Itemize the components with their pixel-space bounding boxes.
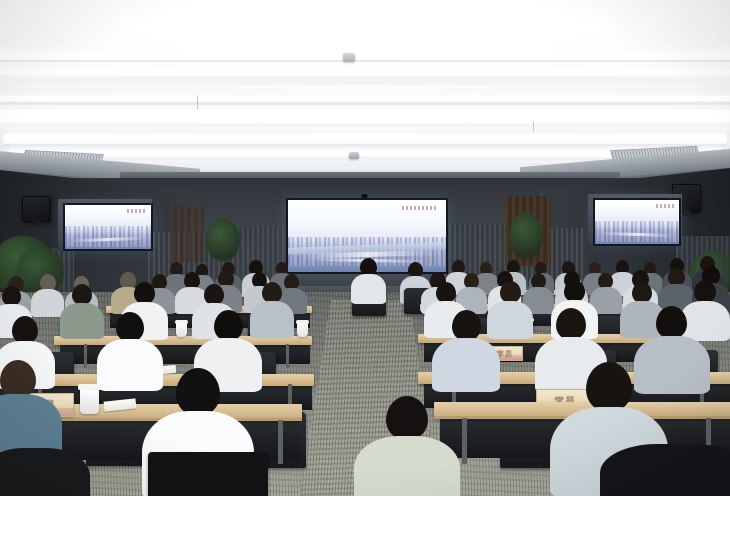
screen-watermark [127,209,146,213]
ceiling-rail [0,60,730,62]
torso [354,436,460,496]
head [176,368,220,416]
head [694,280,716,303]
head [586,362,632,412]
plant-center [206,218,240,262]
paper-cup [80,388,99,414]
torso [31,289,64,317]
paper-cup [297,322,308,337]
head [134,282,155,304]
torso [97,339,163,391]
head [204,284,224,305]
torso [351,274,386,304]
screen-watermark [402,206,437,210]
ceiling-light-strip [0,96,730,101]
wood-door-panel [170,206,204,262]
ceiling-rail [4,144,726,147]
cup-lid [78,384,101,390]
ceiling-light-strip [0,110,730,122]
torso [600,444,730,496]
cup-lid [296,320,309,324]
ceiling-light-strip [0,124,730,128]
screen-sky [595,200,679,220]
head [2,286,21,306]
head [564,280,585,302]
screen-watermark [656,204,674,208]
meeting-room-photo: 学员 [0,0,730,496]
torso [60,303,104,339]
paper-cup [176,322,187,337]
table-leg [84,344,87,368]
head [656,306,687,339]
torso [487,301,533,339]
cup-lid [175,320,188,324]
head [436,282,456,303]
screen-camera-icon [361,194,368,198]
torso [680,301,730,341]
head [0,360,36,398]
screenshot-canvas: 学员 [0,0,730,548]
ceiling-hanger [533,122,534,132]
right-led-screen[interactable] [593,198,681,246]
foreground-chair [148,452,268,496]
head [500,281,521,303]
plant-right [509,212,543,260]
head [632,282,652,303]
ceiling-rail [0,102,730,105]
ceiling-light-strip [0,52,730,59]
smoke-detector-icon [343,53,355,62]
smoke-detector-icon [349,152,359,159]
screen-sky [65,205,151,225]
torso [250,301,294,338]
head [386,396,428,440]
head [452,310,481,341]
torso [0,448,90,496]
table-leg [462,418,467,464]
table-leg [286,344,289,368]
ceiling-light-strip [4,134,726,143]
ceiling-hanger [197,95,198,109]
left-led-screen[interactable] [63,203,153,251]
head [72,284,92,305]
torso [634,336,710,394]
ceiling-light-strip [0,70,730,74]
head [214,310,243,341]
torso [432,338,500,392]
table-leg [278,420,283,464]
ceiling-light-strip [0,76,730,85]
head [556,308,586,340]
wall-speaker-left-icon [22,196,51,222]
head [116,312,144,342]
head [262,282,282,303]
head [12,316,38,344]
